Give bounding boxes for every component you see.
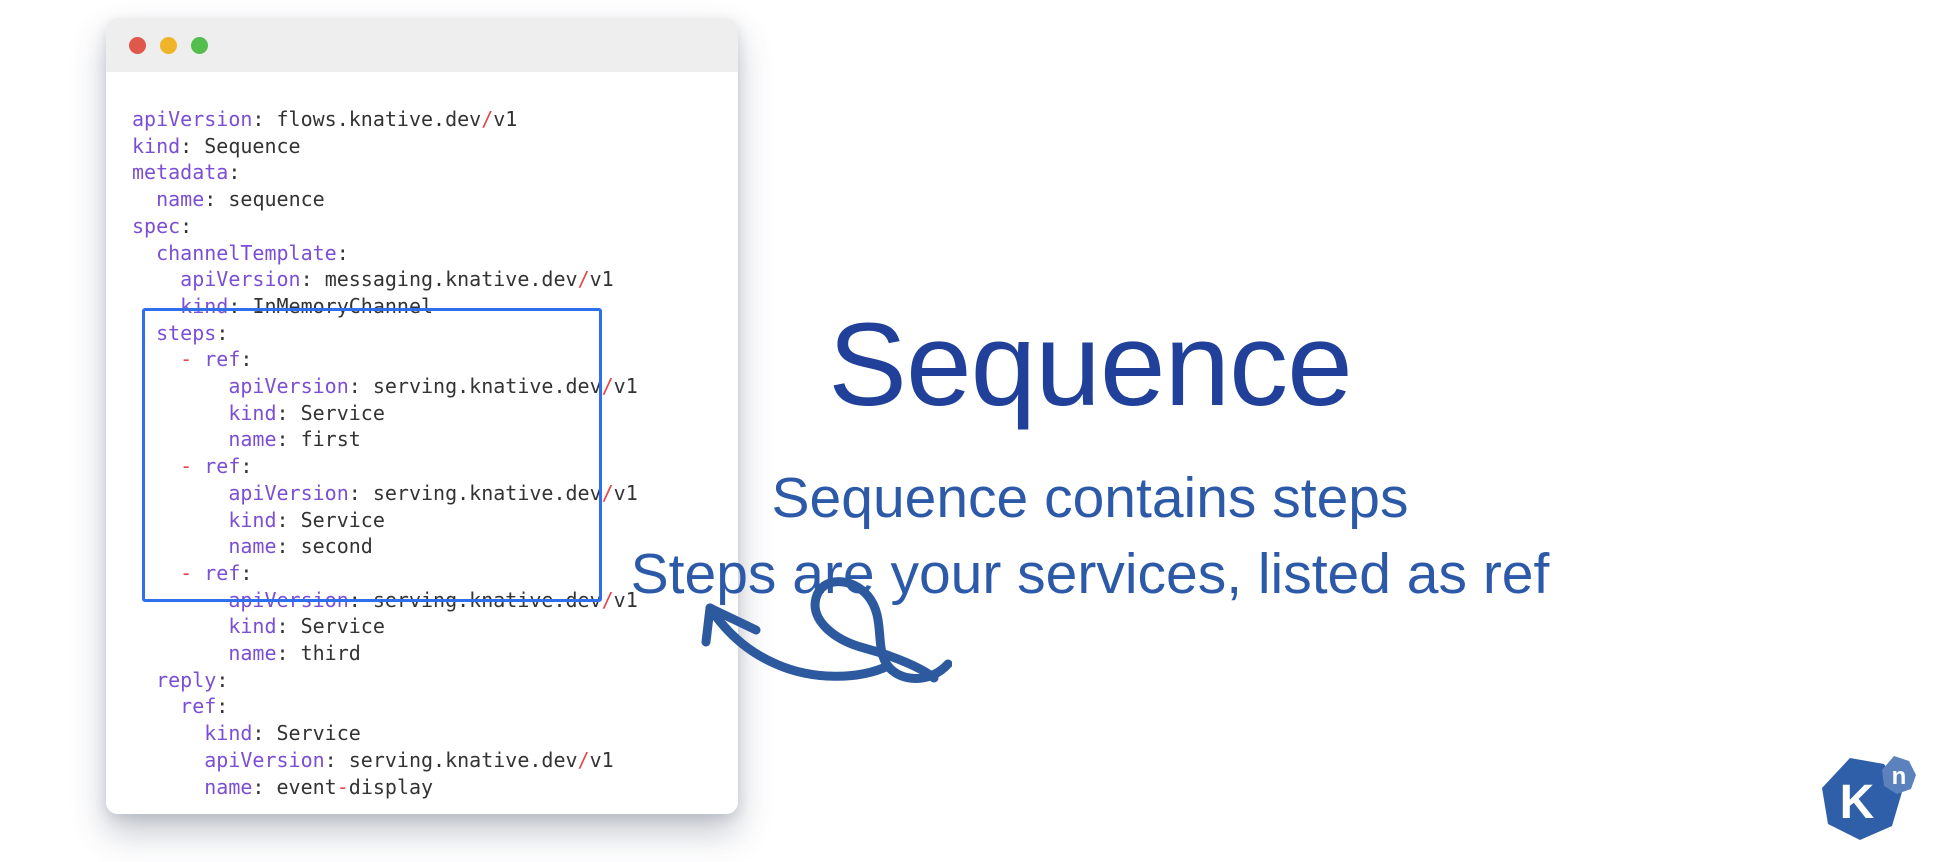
zoom-button[interactable] <box>191 37 208 54</box>
code-line: kind: Service <box>132 721 361 745</box>
knative-logo: K n <box>1812 750 1922 850</box>
logo-letter-n: n <box>1892 763 1907 790</box>
knative-logo-icon: K n <box>1812 750 1922 850</box>
code-line: name: sequence <box>132 187 325 211</box>
code-line: spec: <box>132 214 192 238</box>
code-line: - ref: <box>132 454 252 478</box>
code-line: steps: <box>132 321 228 345</box>
window-titlebar <box>106 18 738 72</box>
close-button[interactable] <box>129 37 146 54</box>
code-line: apiVersion: flows.knative.dev/v1 <box>132 107 517 131</box>
code-line: ref: <box>132 694 228 718</box>
code-line: apiVersion: serving.knative.dev/v1 <box>132 588 638 612</box>
code-line: kind: Sequence <box>132 134 301 158</box>
curved-arrow-annotation <box>672 560 952 690</box>
code-line: kind: InMemoryChannel <box>132 294 433 318</box>
code-line: apiVersion: serving.knative.dev/v1 <box>132 374 638 398</box>
code-line: name: first <box>132 427 361 451</box>
code-line: metadata: <box>132 160 240 184</box>
code-line: kind: Service <box>132 508 385 532</box>
minimize-button[interactable] <box>160 37 177 54</box>
code-line: channelTemplate: <box>132 241 349 265</box>
yaml-code-block[interactable]: apiVersion: flows.knative.dev/v1 kind: S… <box>106 106 738 800</box>
code-body: apiVersion: flows.knative.dev/v1 kind: S… <box>106 72 738 814</box>
code-line: name: second <box>132 534 373 558</box>
code-line: - ref: <box>132 561 252 585</box>
code-line: apiVersion: serving.knative.dev/v1 <box>132 481 638 505</box>
logo-letter-k: K <box>1840 776 1875 829</box>
code-line: name: event-display <box>132 775 433 799</box>
page-title: Sequence <box>828 306 1351 424</box>
code-line: kind: Service <box>132 401 385 425</box>
code-line: - ref: <box>132 347 252 371</box>
code-line: reply: <box>132 668 228 692</box>
code-line: name: third <box>132 641 361 665</box>
code-line: kind: Service <box>132 614 385 638</box>
curved-arrow-icon <box>672 560 952 690</box>
code-window: apiVersion: flows.knative.dev/v1 kind: S… <box>106 18 738 814</box>
subtitle-line-1: Sequence contains steps <box>772 470 1409 527</box>
code-line: apiVersion: messaging.knative.dev/v1 <box>132 267 614 291</box>
code-line: apiVersion: serving.knative.dev/v1 <box>132 748 614 772</box>
